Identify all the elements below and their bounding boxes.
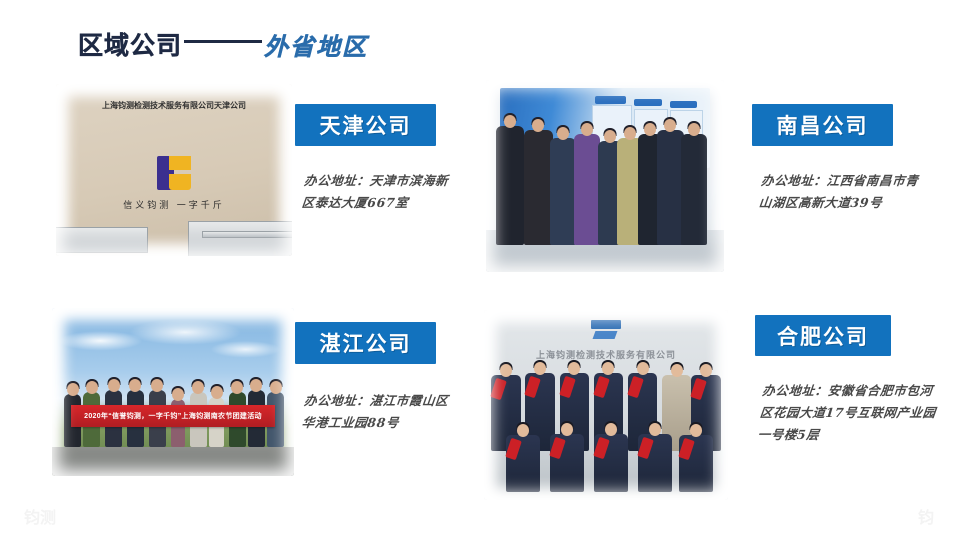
company-label-nanchang[interactable]: 南昌公司	[752, 104, 893, 146]
company-logo-icon	[591, 320, 621, 340]
photo-tianjin-content: 上海钧测检测技术服务有限公司天津公司 信义钧测 一字千斤	[56, 84, 292, 256]
company-label-zhanjiang[interactable]: 湛江公司	[295, 322, 436, 364]
slide-canvas: 区域公司 外省地区 上海钧测检测技术服务有限公司天津公司 信义钧测 一字千斤 天…	[0, 0, 960, 536]
company-logo-icon	[157, 156, 191, 190]
photo-nanchang	[486, 80, 724, 272]
sky-clouds	[52, 318, 294, 375]
watermark-bottom-left: 钧测	[24, 504, 56, 528]
deck-ground	[52, 447, 294, 476]
page-title-main: 区域公司	[78, 26, 182, 62]
company-address-nanchang: 办公地址：江西省南昌市青山湖区高新大道39号	[758, 170, 931, 214]
company-name-zhanjiang: 湛江公司	[320, 328, 412, 358]
company-label-hefei[interactable]: 合肥公司	[755, 315, 891, 356]
company-label-tianjin[interactable]: 天津公司	[295, 104, 436, 146]
photo-hefei: 上海钧测检测技术服务有限公司	[484, 310, 728, 500]
company-address-zhanjiang: 办公地址：湛江市霞山区华港工业园88号	[301, 390, 458, 434]
photo-nanchang-content	[486, 80, 724, 272]
company-name-tianjin: 天津公司	[320, 110, 412, 140]
photo-zhanjiang-content: 2020年“信誉钧测，一字千钧”上海钧测南农节团建活动	[52, 308, 294, 476]
company-address-tianjin: 办公地址：天津市滨海新区泰达大厦667室	[301, 170, 456, 214]
company-address-hefei: 办公地址：安徽省合肥市包河区花园大道17号互联网产业园一号楼5层	[757, 380, 940, 446]
company-name-nanchang: 南昌公司	[777, 110, 869, 140]
office-wall-slogan: 信义钧测 一字千斤	[56, 198, 292, 211]
title-dash-rule	[184, 40, 262, 43]
photo-hefei-content: 上海钧测检测技术服务有限公司	[484, 310, 728, 500]
company-name-hefei: 合肥公司	[777, 321, 869, 351]
photo-tianjin: 上海钧测检测技术服务有限公司天津公司 信义钧测 一字千斤	[56, 84, 292, 256]
watermark-bottom-right: 钧	[918, 504, 934, 528]
event-banner-text: 2020年“信誉钧测，一字千钧”上海钧测南农节团建活动	[71, 405, 274, 427]
page-title: 区域公司 外省地区	[78, 26, 368, 62]
office-desks	[56, 215, 292, 256]
page-title-sub: 外省地区	[264, 27, 368, 62]
photo-zhanjiang: 2020年“信誉钧测，一字千钧”上海钧测南农节团建活动	[52, 308, 294, 476]
